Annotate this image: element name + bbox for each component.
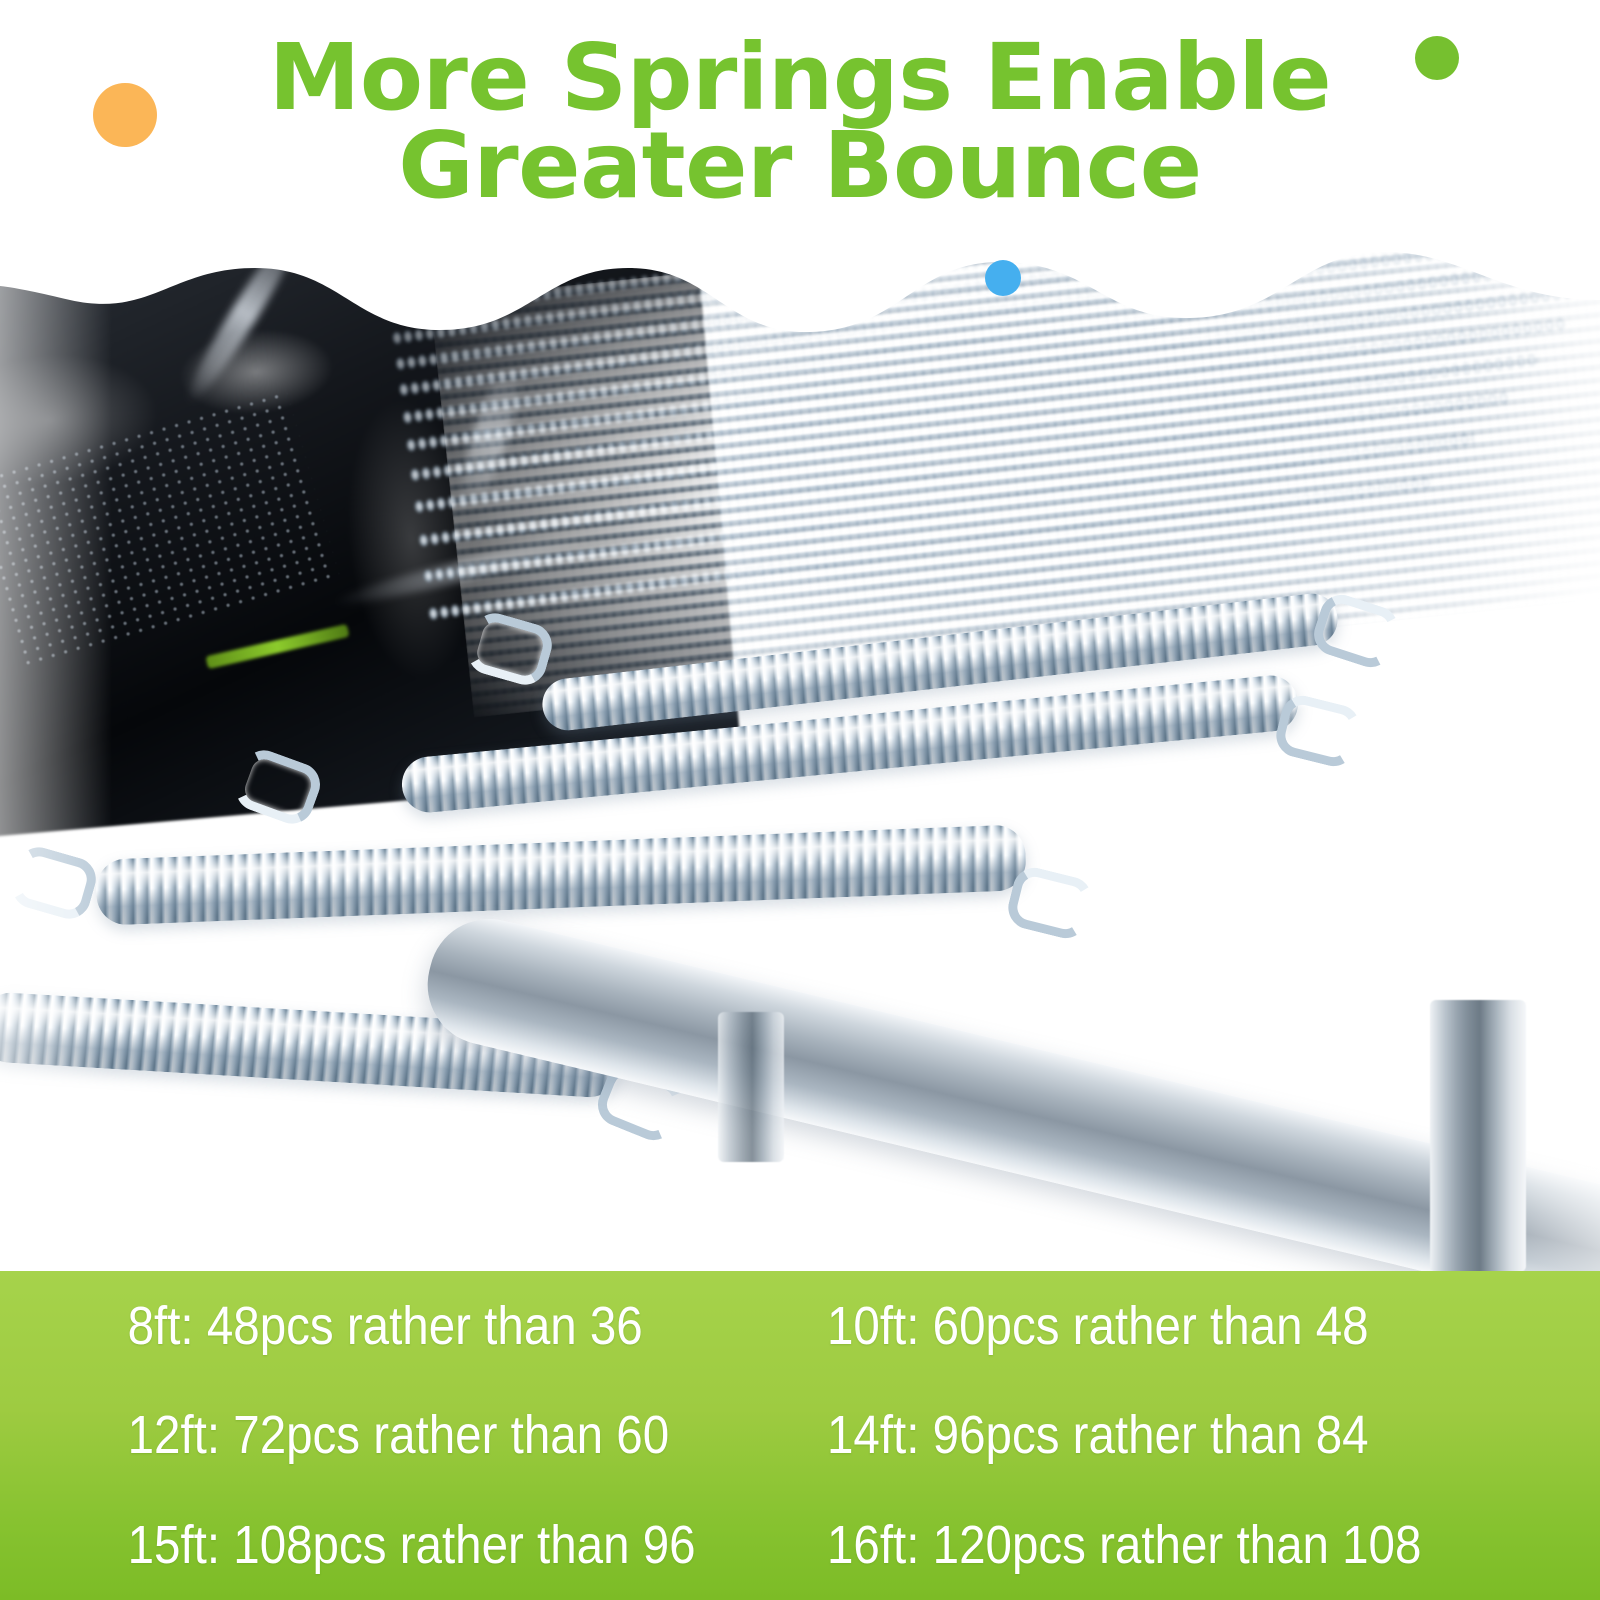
spec-row-3-right: 16ft: 120pcs rather than 108 (805, 1515, 1505, 1575)
spring-count-spec-panel: 8ft: 48pcs rather than 36 10ft: 60pcs ra… (0, 1271, 1600, 1600)
spring-hook-foreground-1-left (7, 842, 101, 924)
spec-row-1-right: 10ft: 60pcs rather than 48 (805, 1296, 1505, 1356)
spec-row-2-right: 14ft: 96pcs rather than 84 (805, 1405, 1505, 1465)
spec-row-1-left: 8ft: 48pcs rather than 36 (0, 1296, 708, 1356)
spring-hook-foreground-1-right (1004, 863, 1097, 943)
spec-grid: 8ft: 48pcs rather than 36 10ft: 60pcs ra… (0, 1271, 1600, 1600)
decorative-dot-orange (93, 83, 157, 147)
spec-row-3-left: 15ft: 108pcs rather than 96 (0, 1515, 708, 1575)
trampoline-spring-photo (0, 0, 1600, 1272)
decorative-dot-green (1415, 36, 1459, 80)
decorative-dot-blue (985, 260, 1021, 296)
photo-content (0, 0, 1600, 1272)
trampoline-frame-leg (1430, 1000, 1526, 1272)
trampoline-frame-leg-secondary (718, 1012, 784, 1162)
spring-hook-mid-2 (1272, 691, 1365, 771)
spring-coil-foreground-1 (95, 824, 1027, 926)
product-feature-image: More Springs Enable Greater Bounce 8ft: … (0, 0, 1600, 1600)
spec-row-2-left: 12ft: 72pcs rather than 60 (0, 1405, 708, 1465)
